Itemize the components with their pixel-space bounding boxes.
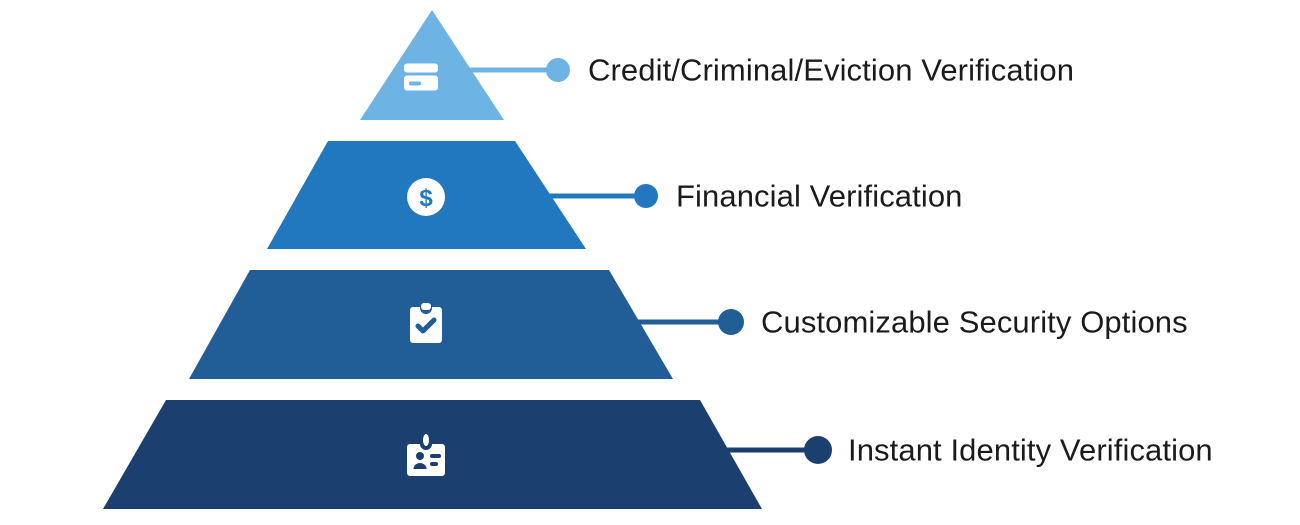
pyramid-tier-1-label: Credit/Criminal/Eviction Verification: [588, 55, 1074, 86]
pyramid-diagram: $ Credit/Criminal/Eviction Verification …: [0, 0, 1300, 525]
id-badge-icon: [407, 434, 445, 476]
dollar-circle-icon: $: [407, 178, 445, 216]
credit-card-icon: [404, 64, 438, 91]
connector-dot-tier-1[interactable]: [546, 58, 570, 82]
svg-text:$: $: [419, 185, 433, 212]
connector-dot-tier-3[interactable]: [718, 309, 744, 335]
clipboard-check-icon: [410, 303, 442, 343]
pyramid-tier-4-label: Instant Identity Verification: [848, 435, 1213, 466]
connector-dot-tier-2[interactable]: [634, 184, 658, 208]
pyramid-tier-2-label: Financial Verification: [676, 181, 963, 212]
connector-dot-tier-4[interactable]: [804, 436, 832, 464]
pyramid-tier-3-label: Customizable Security Options: [761, 307, 1188, 338]
